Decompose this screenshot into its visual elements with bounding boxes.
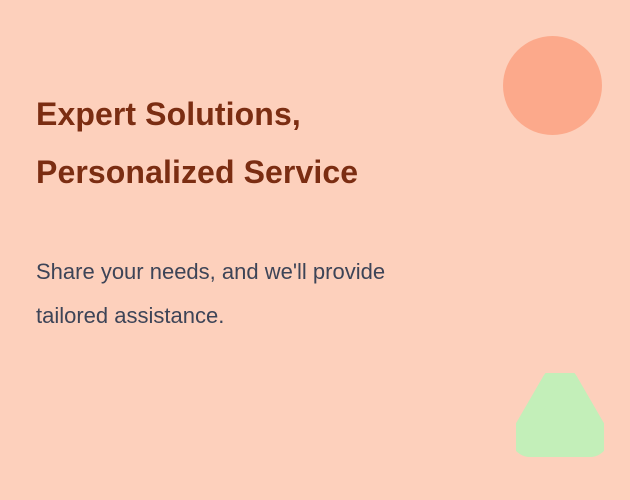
- page-title: Expert Solutions, Personalized Service: [36, 85, 506, 201]
- subtitle-text: Share your needs, and we'll provide tail…: [36, 250, 516, 338]
- decorative-circle-icon: [503, 36, 602, 135]
- promo-card: Expert Solutions, Personalized Service S…: [0, 0, 630, 500]
- decorative-rounded-triangle-icon: [516, 373, 604, 458]
